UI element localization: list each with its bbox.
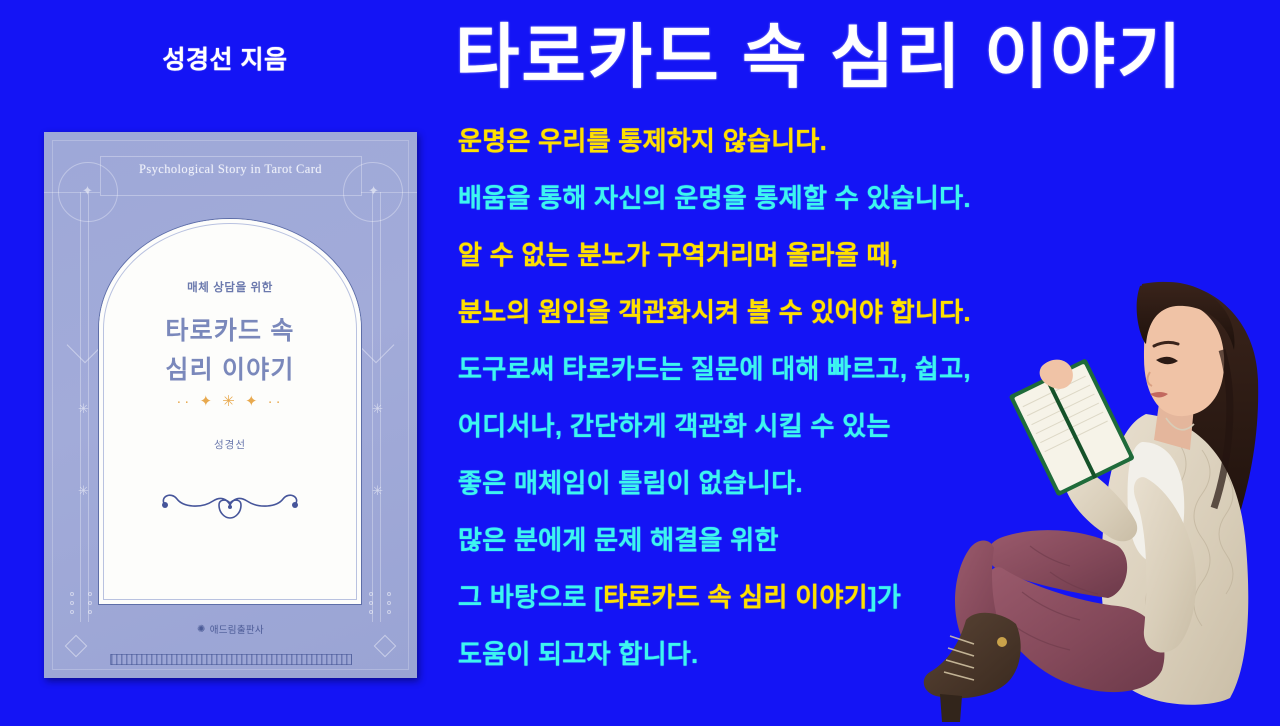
deco-diamond-left [65,635,88,658]
publisher-row: ✺ 애드림출판사 [44,622,417,636]
deco-hline-left [44,192,100,193]
deco-diamond-right [374,635,397,658]
deco-hline-right [361,192,417,193]
body-line-2: 배움을 통해 자신의 운명을 통제할 수 있습니다. [458,185,1078,242]
deco-dots-left [70,592,74,614]
highlighted-book-title: 타로카드 속 심리 이야기 [603,582,868,612]
deco-dots-right2 [369,592,373,614]
deco-star-right-top: ✦ [368,184,379,197]
cover-arch-panel: 매체 상담을 위한 타로카드 속 심리 이야기 ·· ✦ ✳ ✦ ·· 성경선 [99,219,361,604]
reader-photo [910,246,1280,726]
cover-title-line-1: 타로카드 속 [99,312,361,351]
author-credit: 성경선 지음 [0,40,450,76]
deco-star-left-low: ✳ [78,484,89,497]
deco-chevron-left [67,327,104,364]
cover-title-line-2: 심리 이야기 [99,351,361,390]
deco-star-left-mid: ✳ [78,402,89,415]
flourish-ornament-icon [99,487,361,526]
cover-eyebrow-text: Psychological Story in Tarot Card [44,162,417,177]
deco-dots-right [387,592,391,614]
boot-buckle [997,637,1007,647]
body-line-1: 운명은 우리를 통제하지 않습니다. [458,128,1078,185]
book-cover-image: ✦ ✦ ✳ ✳ ✳ ✳ Psychological Story in Tarot… [44,132,417,678]
page-title: 타로카드 속 심리 이야기 [455,22,1183,92]
deco-star-right-mid: ✳ [372,402,383,415]
publisher-name: 애드림출판사 [210,622,264,636]
deco-chevron-right [358,327,395,364]
cover-subtitle: 매체 상담을 위한 [99,279,361,295]
starburst-ornament-icon: ·· ✦ ✳ ✦ ·· [99,394,361,409]
cover-author-name: 성경선 [99,437,361,452]
sun-burst-icon: ✺ [197,624,206,635]
left-column: 성경선 지음 ✦ ✦ ✳ ✳ ✳ ✳ Psychological Story i… [0,0,450,726]
cover-bottom-rule [110,654,352,665]
cover-title: 타로카드 속 심리 이야기 [99,312,361,390]
boot-heel [940,694,962,722]
deco-star-right-low: ✳ [372,484,383,497]
deco-dots-left2 [88,592,92,614]
